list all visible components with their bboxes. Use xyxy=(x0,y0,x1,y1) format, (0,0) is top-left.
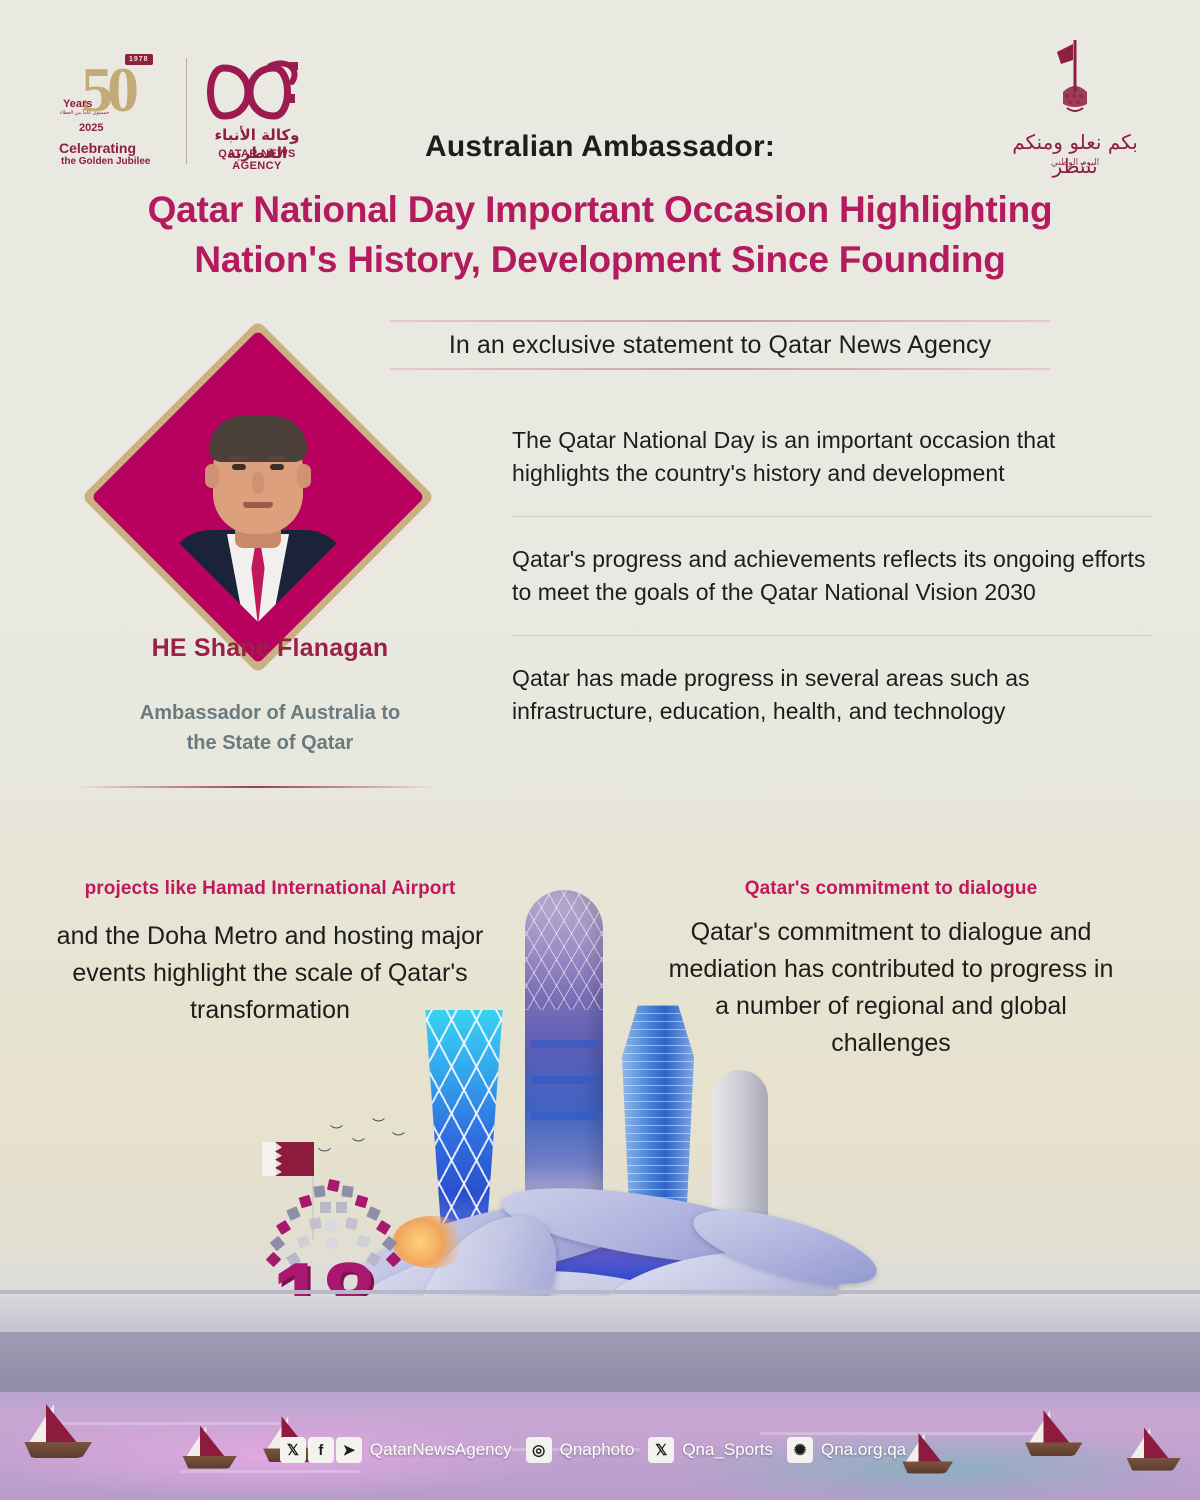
exclusive-statement-text: In an exclusive statement to Qatar News … xyxy=(390,322,1050,368)
profile-role-line-2: the State of Qatar xyxy=(70,728,470,758)
social-handle[interactable]: QatarNewsAgency xyxy=(370,1440,512,1460)
page-title: Qatar National Day Important Occasion Hi… xyxy=(90,185,1110,285)
telegram-icon[interactable]: ➤ xyxy=(336,1437,362,1463)
social-footer: 𝕏 f ➤ QatarNewsAgency ◎ Qnaphoto 𝕏 Qna_S… xyxy=(0,1434,1200,1466)
bird-icon: ︶ xyxy=(352,1138,365,1151)
social-handle[interactable]: Qna.org.qa xyxy=(821,1440,906,1460)
avatar xyxy=(133,372,383,622)
national-day-emblem-icon xyxy=(1005,34,1145,134)
headline-line-1: Qatar National Day Important Occasion Hi… xyxy=(90,185,1110,235)
jubilee-year-badge: 1978 xyxy=(125,54,153,65)
facebook-icon[interactable]: f xyxy=(308,1437,334,1463)
x-icon[interactable]: 𝕏 xyxy=(648,1437,674,1463)
profile-divider xyxy=(82,786,430,788)
promenade-rail xyxy=(0,1290,1200,1294)
quote-list: The Qatar National Day is an important o… xyxy=(512,424,1152,728)
bird-icon: ︶ xyxy=(330,1125,343,1138)
social-account-qnaphoto[interactable]: ◎ Qnaphoto xyxy=(526,1437,649,1463)
headline-line-2: Nation's History, Development Since Foun… xyxy=(90,235,1110,285)
eyebrow-title: Australian Ambassador: xyxy=(0,130,1200,164)
qna-atom-icon xyxy=(204,56,308,128)
instagram-icon[interactable]: ◎ xyxy=(526,1437,552,1463)
x-icon[interactable]: 𝕏 xyxy=(280,1437,306,1463)
globe-icon[interactable]: ✺ xyxy=(787,1437,813,1463)
profile-role: Ambassador of Australia to the State of … xyxy=(70,698,470,758)
quote-divider xyxy=(512,516,1152,517)
social-account-qatarnewsagency[interactable]: 𝕏 f ➤ QatarNewsAgency xyxy=(280,1437,526,1463)
infographic-canvas: 50 1978 Years خمسون عاماً من العطاء 2025… xyxy=(0,0,1200,1500)
bird-icon: ︶ xyxy=(392,1132,405,1145)
jubilee-years-label: Years xyxy=(63,98,92,110)
social-handle[interactable]: Qna_Sports xyxy=(682,1440,773,1460)
social-handle[interactable]: Qnaphoto xyxy=(560,1440,635,1460)
aspire-tower-icon xyxy=(525,890,603,1200)
quote-item: The Qatar National Day is an important o… xyxy=(512,424,1152,490)
quote-divider xyxy=(512,635,1152,636)
social-account-qnasports[interactable]: 𝕏 Qna_Sports xyxy=(648,1437,787,1463)
bird-icon: ︶ xyxy=(372,1118,385,1131)
promenade xyxy=(0,1296,1200,1332)
jubilee-years-arabic: خمسون عاماً من العطاء xyxy=(60,110,109,116)
qatar-flag-icon xyxy=(262,1142,314,1176)
quote-item: Qatar has made progress in several areas… xyxy=(512,662,1152,728)
profile-role-line-1: Ambassador of Australia to xyxy=(70,698,470,728)
quay-wall xyxy=(0,1332,1200,1392)
social-account-website[interactable]: ✺ Qna.org.qa xyxy=(787,1437,920,1463)
profile-name: HE Shane Flanagan xyxy=(60,634,480,663)
quote-item: Qatar's progress and achievements reflec… xyxy=(512,543,1152,609)
banner-rule-bottom xyxy=(390,368,1050,370)
bird-icon: ︶ xyxy=(318,1148,331,1161)
exclusive-banner: In an exclusive statement to Qatar News … xyxy=(390,320,1050,370)
